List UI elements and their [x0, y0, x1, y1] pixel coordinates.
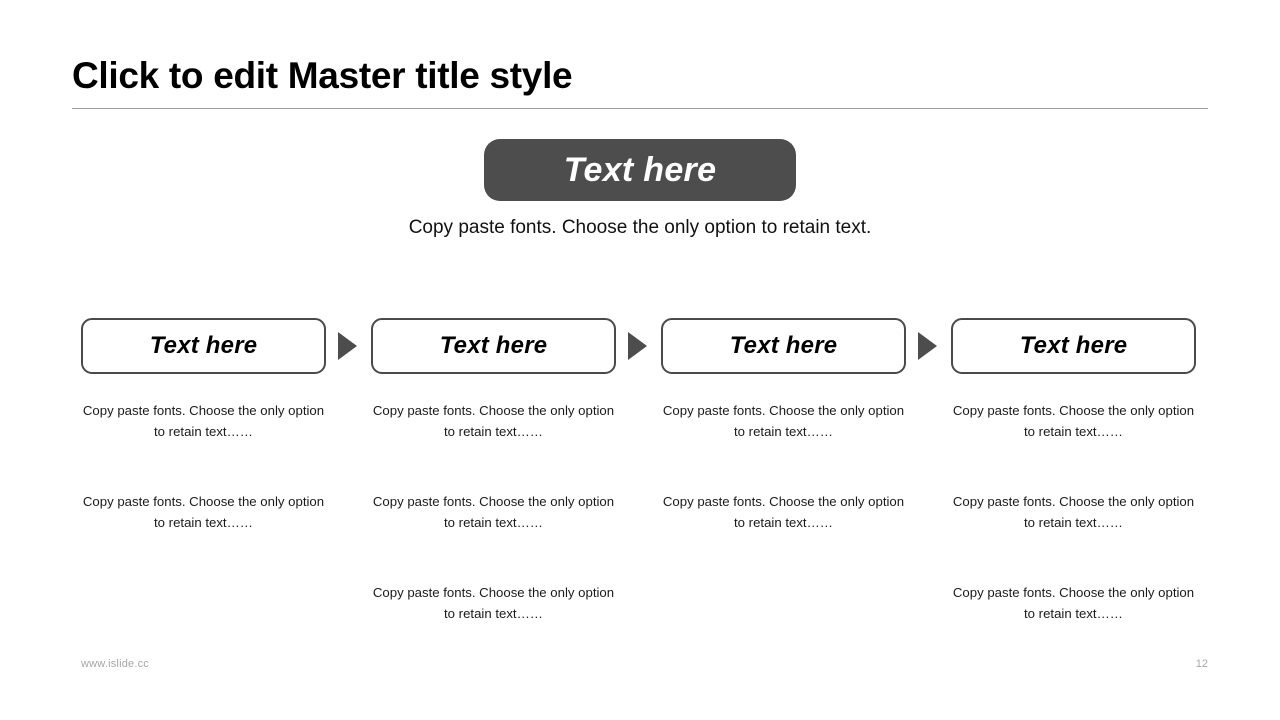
body-text-block[interactable]: Copy paste fonts. Choose the only option…	[371, 491, 616, 533]
body-text-block[interactable]: Copy paste fonts. Choose the only option…	[951, 400, 1196, 442]
step-box-label: Text here	[150, 332, 258, 360]
arrow-right-icon	[338, 332, 357, 360]
step-row: Text here Text here Text here Text here	[81, 318, 1199, 374]
body-text-block[interactable]: Copy paste fonts. Choose the only option…	[951, 491, 1196, 533]
body-text-block[interactable]: Copy paste fonts. Choose the only option…	[661, 400, 906, 442]
arrow-right-icon	[918, 332, 937, 360]
body-text-block[interactable]: Copy paste fonts. Choose the only option…	[371, 582, 616, 624]
step-box-label: Text here	[440, 332, 548, 360]
content-column-3: Copy paste fonts. Choose the only option…	[661, 400, 906, 533]
body-text-block[interactable]: Copy paste fonts. Choose the only option…	[81, 491, 326, 533]
step-box-2[interactable]: Text here	[371, 318, 616, 374]
slide-canvas: Click to edit Master title style Text he…	[0, 0, 1280, 720]
step-box-1[interactable]: Text here	[81, 318, 326, 374]
page-title[interactable]: Click to edit Master title style	[72, 52, 1208, 100]
header-subtitle[interactable]: Copy paste fonts. Choose the only option…	[0, 215, 1280, 241]
step-box-4[interactable]: Text here	[951, 318, 1196, 374]
header-pill[interactable]: Text here	[484, 139, 796, 201]
step-box-label: Text here	[1020, 332, 1128, 360]
footer-site-label: www.islide.cc	[81, 658, 149, 670]
content-column-1: Copy paste fonts. Choose the only option…	[81, 400, 326, 533]
body-text-block[interactable]: Copy paste fonts. Choose the only option…	[661, 491, 906, 533]
step-box-label: Text here	[730, 332, 838, 360]
title-block: Click to edit Master title style	[72, 52, 1208, 100]
content-column-2: Copy paste fonts. Choose the only option…	[371, 400, 616, 624]
footer-page-number: 12	[1196, 658, 1208, 670]
body-text-block[interactable]: Copy paste fonts. Choose the only option…	[951, 582, 1196, 624]
arrow-right-icon	[628, 332, 647, 360]
header-pill-label: Text here	[564, 151, 717, 190]
body-text-block[interactable]: Copy paste fonts. Choose the only option…	[371, 400, 616, 442]
step-box-3[interactable]: Text here	[661, 318, 906, 374]
body-text-block[interactable]: Copy paste fonts. Choose the only option…	[81, 400, 326, 442]
title-divider	[72, 108, 1208, 109]
content-column-4: Copy paste fonts. Choose the only option…	[951, 400, 1196, 624]
